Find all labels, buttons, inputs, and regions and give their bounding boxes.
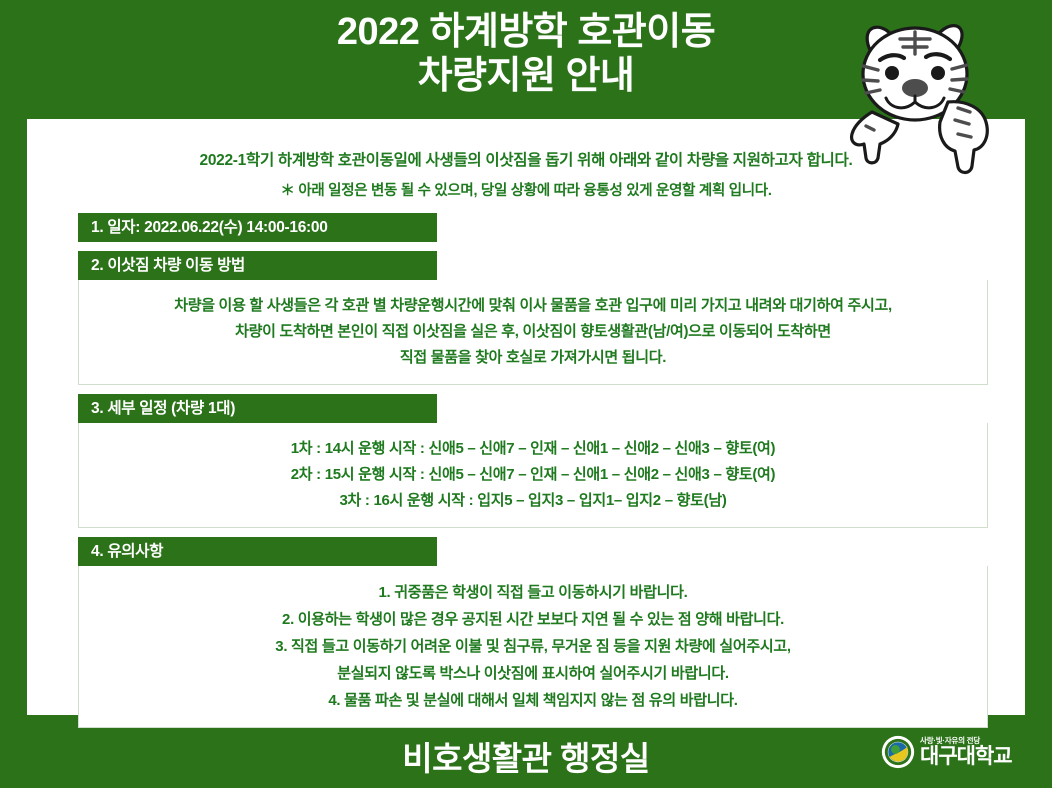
university-logo: 사랑·빛·자유의 전당 대구대학교 — [881, 731, 1033, 773]
intro-line-2: ＊ 아래 일정은 변동 될 수 있으며, 당일 상황에 따라 융통성 있게 운영… — [27, 176, 1025, 206]
daegu-university-emblem-icon — [881, 735, 915, 769]
intro-line-1: 2022-1학기 하계방학 호관이동일에 사생들의 이삿짐을 돕기 위해 아래와… — [27, 146, 1025, 176]
schedule-line: 2차 : 15시 운행 시작 : 신애5 – 신애7 – 인재 – 신애1 – … — [89, 462, 977, 488]
note-line: 4. 물품 파손 및 분실에 대해서 일체 책임지지 않는 점 유의 바랍니다. — [89, 687, 977, 714]
content-panel: 2022-1학기 하계방학 호관이동일에 사생들의 이삿짐을 돕기 위해 아래와… — [27, 119, 1025, 715]
logo-text-block: 사랑·빛·자유의 전당 대구대학교 — [920, 737, 1012, 768]
page-title: 2022 하계방학 호관이동 차량지원 안내 — [0, 10, 1052, 98]
schedule-line: 1차 : 14시 운행 시작 : 신애5 – 신애7 – 인재 – 신애1 – … — [89, 436, 977, 462]
intro-block: 2022-1학기 하계방학 호관이동일에 사생들의 이삿짐을 돕기 위해 아래와… — [27, 146, 1025, 206]
section-body-3: 1차 : 14시 운행 시작 : 신애5 – 신애7 – 인재 – 신애1 – … — [78, 423, 988, 528]
section-body-4: 1. 귀중품은 학생이 직접 들고 이동하시기 바랍니다. 2. 이용하는 학생… — [78, 566, 988, 728]
body-line: 차량이 도착하면 본인이 직접 이삿짐을 실은 후, 이삿짐이 향토생활관(남/… — [89, 319, 977, 345]
section-date: 1. 일자: 2022.06.22(수) 14:00-16:00 — [78, 213, 988, 242]
section-body-2: 차량을 이용 할 사생들은 각 호관 별 차량운행시간에 맞춰 이사 물품을 호… — [78, 280, 988, 385]
body-line: 직접 물품을 찾아 호실로 가져가시면 됩니다. — [89, 345, 977, 371]
section-schedule: 3. 세부 일정 (차량 1대) 1차 : 14시 운행 시작 : 신애5 – … — [78, 394, 988, 528]
body-line: 차량을 이용 할 사생들은 각 호관 별 차량운행시간에 맞춰 이사 물품을 호… — [89, 293, 977, 319]
note-line: 2. 이용하는 학생이 많은 경우 공지된 시간 보보다 지연 될 수 있는 점… — [89, 606, 977, 633]
section-header-1: 1. 일자: 2022.06.22(수) 14:00-16:00 — [78, 213, 437, 242]
section-header-2: 2. 이삿짐 차량 이동 방법 — [78, 251, 437, 280]
logo-university-name: 대구대학교 — [920, 746, 1012, 767]
sections-container: 1. 일자: 2022.06.22(수) 14:00-16:00 2. 이삿짐 … — [78, 213, 988, 737]
poster-header: 2022 하계방학 호관이동 차량지원 안내 — [0, 0, 1052, 119]
section-header-4: 4. 유의사항 — [78, 537, 437, 566]
section-move-method: 2. 이삿짐 차량 이동 방법 차량을 이용 할 사생들은 각 호관 별 차량운… — [78, 251, 988, 385]
section-header-3: 3. 세부 일정 (차량 1대) — [78, 394, 437, 423]
schedule-line: 3차 : 16시 운행 시작 : 입지5 – 입지3 – 입지1– 입지2 – … — [89, 488, 977, 514]
section-precautions: 4. 유의사항 1. 귀중품은 학생이 직접 들고 이동하시기 바랍니다. 2.… — [78, 537, 988, 728]
logo-tagline: 사랑·빛·자유의 전당 — [920, 737, 1012, 745]
note-line: 분실되지 않도록 박스나 이삿짐에 표시하여 실어주시기 바랍니다. — [89, 660, 977, 687]
note-line: 1. 귀중품은 학생이 직접 들고 이동하시기 바랍니다. — [89, 579, 977, 606]
note-line: 3. 직접 들고 이동하기 어려운 이불 및 침구류, 무거운 짐 등을 지원 … — [89, 633, 977, 660]
